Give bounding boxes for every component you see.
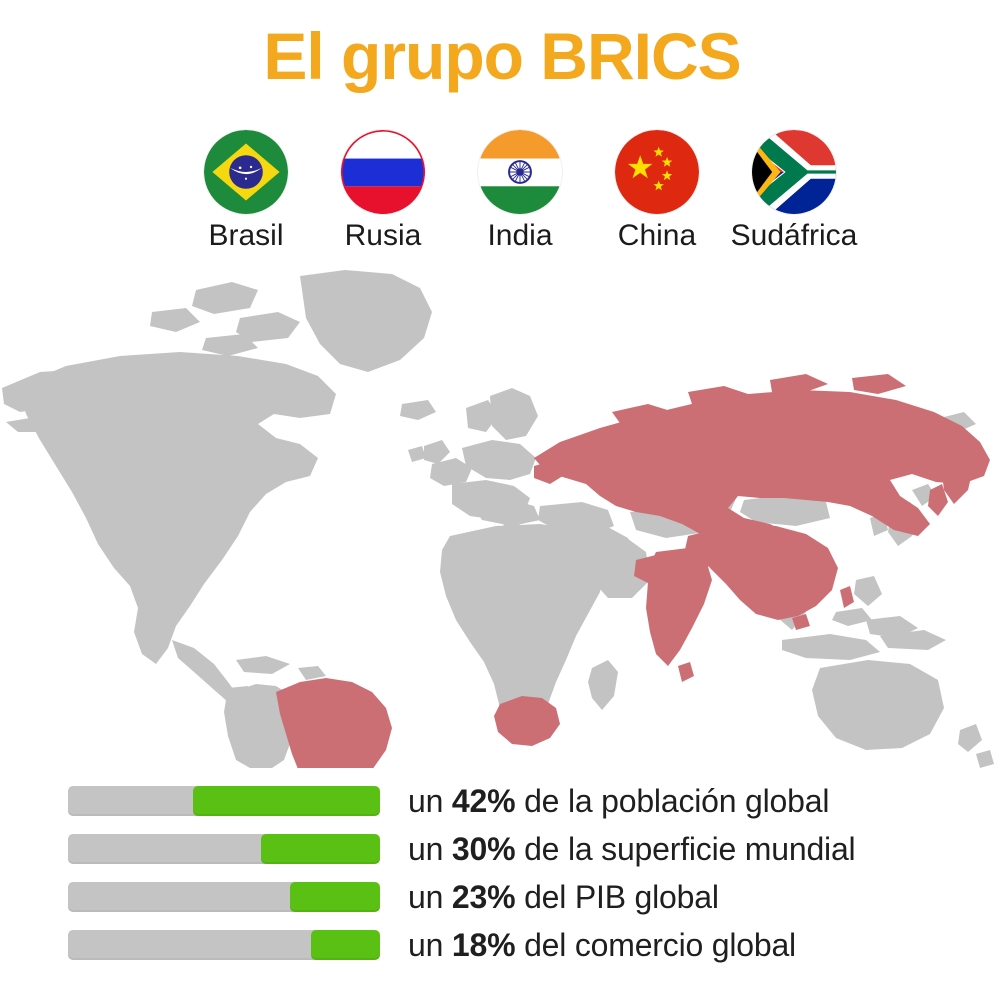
flag-label: India: [487, 221, 552, 251]
stat-label: un 42% de la población global: [408, 783, 829, 820]
stat-row-poblacion: un 42% de la población global: [0, 782, 1004, 820]
stat-prefix: un: [408, 879, 443, 915]
flag-south-africa-circle-icon: [752, 130, 836, 214]
stat-prefix: un: [408, 927, 443, 963]
stat-prefix: un: [408, 783, 443, 819]
stat-value: 23%: [452, 879, 515, 915]
progress-fill: [290, 882, 380, 912]
progress-track: [68, 882, 380, 912]
statistics-bars: un 42% de la población global un 30% de …: [0, 782, 1004, 982]
stat-row-pib: un 23% del PIB global: [0, 878, 1004, 916]
stat-suffix: del PIB global: [524, 879, 719, 915]
brics-flags-row: Brasil Rusia: [180, 130, 860, 260]
infographic-canvas: El grupo BRICS Brasil: [0, 0, 1004, 1004]
progress-fill: [261, 834, 380, 864]
stat-row-comercio: un 18% del comercio global: [0, 926, 1004, 964]
progress-track: [68, 786, 380, 816]
flag-label: Brasil: [208, 221, 283, 251]
stat-label: un 23% del PIB global: [408, 879, 719, 916]
progress-track: [68, 834, 380, 864]
flag-item-rusia: Rusia: [317, 130, 449, 251]
flag-item-india: India: [454, 130, 586, 251]
stat-label: un 18% del comercio global: [408, 927, 796, 964]
stat-label: un 30% de la superficie mundial: [408, 831, 855, 868]
stat-row-superficie: un 30% de la superficie mundial: [0, 830, 1004, 868]
flag-russia-circle-icon: [341, 130, 425, 214]
stat-value: 18%: [452, 927, 515, 963]
flag-label: Sudáfrica: [731, 221, 858, 251]
stat-suffix: del comercio global: [524, 927, 796, 963]
stat-value: 30%: [452, 831, 515, 867]
progress-fill: [311, 930, 380, 960]
stat-suffix: de la población global: [524, 783, 829, 819]
flag-item-brasil: Brasil: [180, 130, 312, 251]
flag-brazil-circle-icon: [204, 130, 288, 214]
flag-item-sudafrica: Sudáfrica: [728, 130, 860, 251]
flag-india-circle-icon: [478, 130, 562, 214]
flag-label: China: [618, 221, 696, 251]
flag-china-circle-icon: [615, 130, 699, 214]
stat-suffix: de la superficie mundial: [524, 831, 855, 867]
progress-fill: [193, 786, 380, 816]
progress-track: [68, 930, 380, 960]
stat-prefix: un: [408, 831, 443, 867]
stat-value: 42%: [452, 783, 515, 819]
page-title: El grupo BRICS: [0, 22, 1004, 91]
flag-label: Rusia: [345, 221, 422, 251]
world-map-icon: [0, 268, 1004, 768]
flag-item-china: China: [591, 130, 723, 251]
